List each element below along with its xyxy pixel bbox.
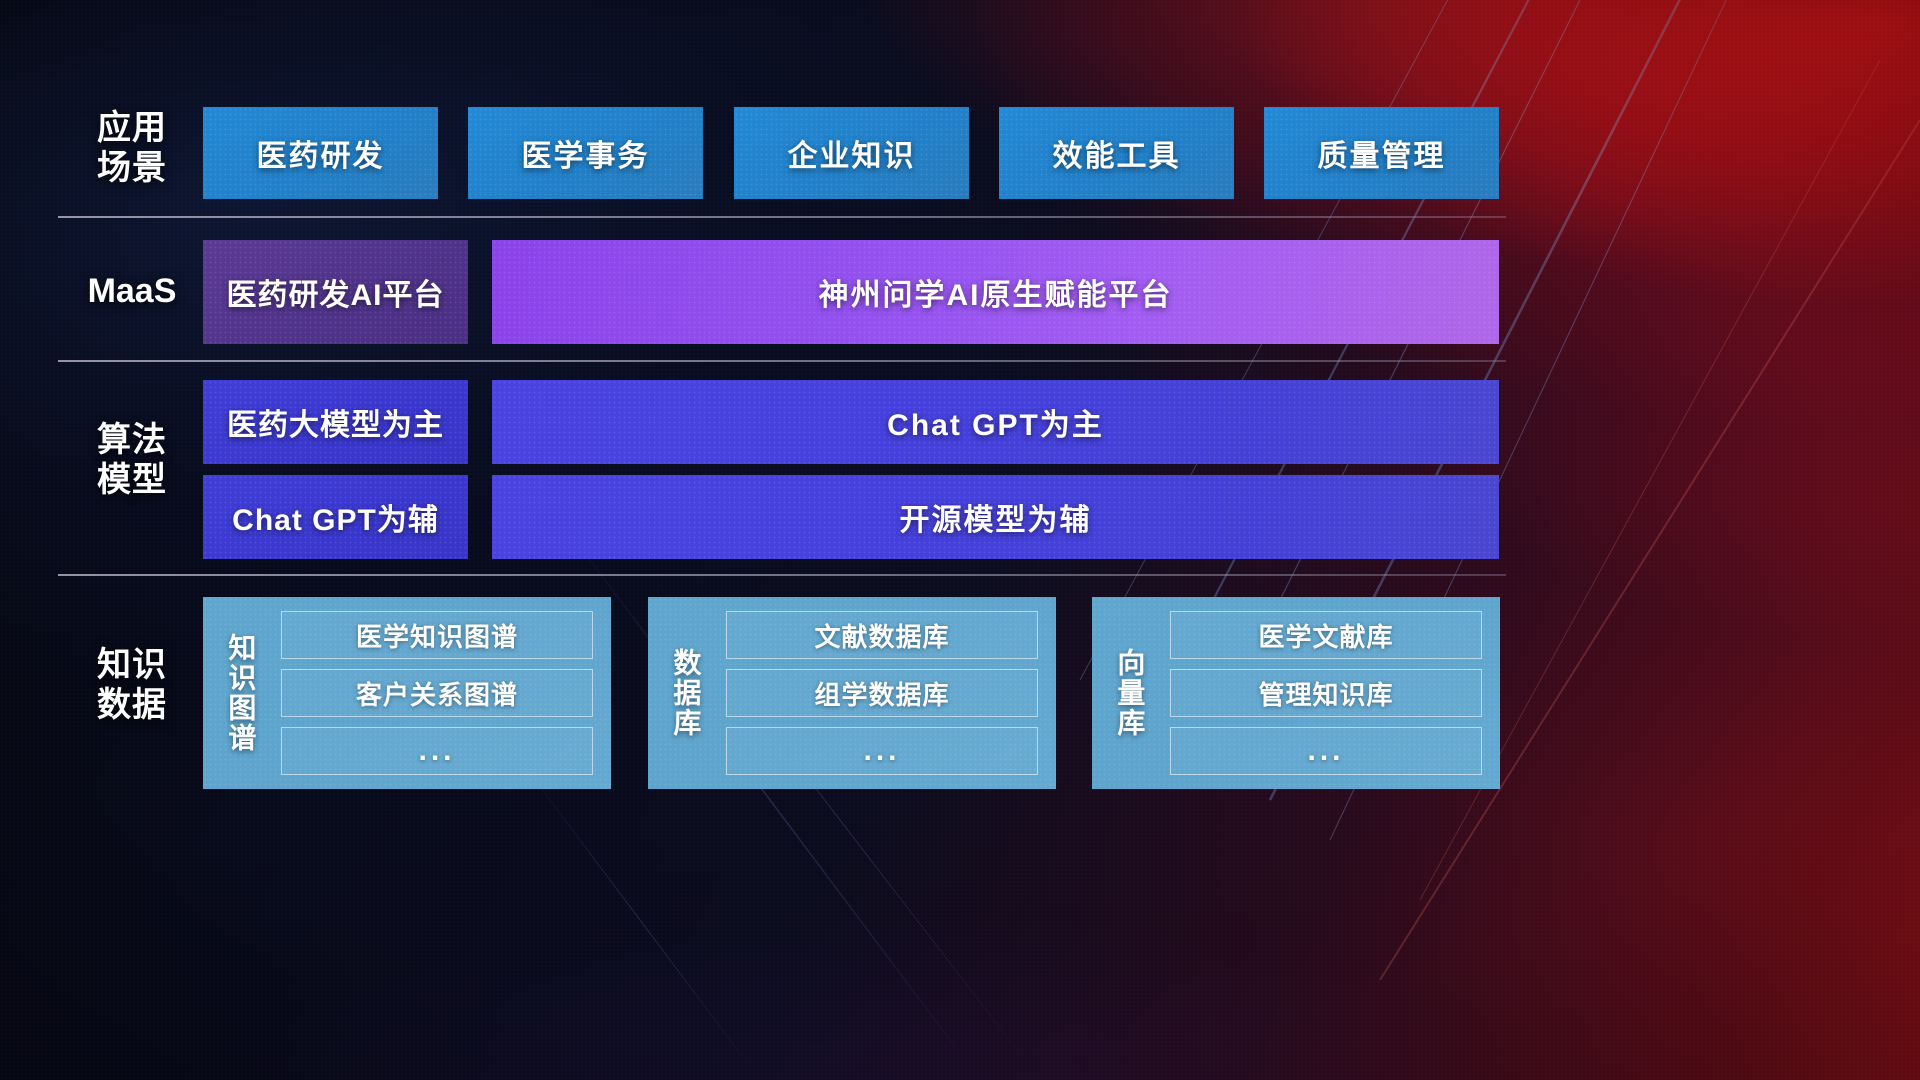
divider-maas-algorithm bbox=[58, 360, 1506, 362]
algorithm-box-medicine-llm-primary[interactable]: 医药大模型为主 bbox=[203, 380, 468, 464]
maas-box-label: 医药研发AI平台 bbox=[227, 270, 445, 314]
knowledge-item[interactable]: 客户关系图谱 bbox=[281, 669, 593, 717]
app-box-medical-affairs[interactable]: 医学事务 bbox=[468, 107, 703, 199]
algorithm-box-label: 医药大模型为主 bbox=[227, 400, 444, 444]
maas-box-medicine-rd-platform[interactable]: 医药研发AI平台 bbox=[203, 240, 468, 344]
knowledge-group-title: 向量库 bbox=[1092, 597, 1166, 789]
knowledge-item[interactable]: 医学知识图谱 bbox=[281, 611, 593, 659]
knowledge-group-vector-database: 向量库 医学文献库 管理知识库 ... bbox=[1092, 597, 1500, 789]
knowledge-group-title: 数据库 bbox=[648, 597, 722, 789]
knowledge-item[interactable]: 医学文献库 bbox=[1170, 611, 1482, 659]
knowledge-item-more[interactable]: ... bbox=[1170, 727, 1482, 775]
tier-label-algorithm: 算法 模型 bbox=[72, 420, 192, 500]
knowledge-item-more[interactable]: ... bbox=[726, 727, 1038, 775]
app-box-quality-management[interactable]: 质量管理 bbox=[1264, 107, 1499, 199]
app-box-enterprise-knowledge[interactable]: 企业知识 bbox=[734, 107, 969, 199]
app-box-label: 医学事务 bbox=[522, 131, 650, 175]
app-box-label: 质量管理 bbox=[1318, 131, 1446, 175]
maas-box-label: 神州问学AI原生赋能平台 bbox=[819, 270, 1173, 314]
algorithm-box-label: Chat GPT为辅 bbox=[232, 495, 439, 539]
knowledge-group-database: 数据库 文献数据库 组学数据库 ... bbox=[648, 597, 1056, 789]
app-box-label: 医药研发 bbox=[257, 131, 385, 175]
knowledge-group-items: 文献数据库 组学数据库 ... bbox=[722, 597, 1056, 789]
architecture-diagram: 应用 场景 医药研发 医学事务 企业知识 效能工具 质量管理 MaaS 医药研发… bbox=[0, 0, 1920, 1080]
knowledge-item[interactable]: 文献数据库 bbox=[726, 611, 1038, 659]
app-box-label: 效能工具 bbox=[1053, 131, 1181, 175]
knowledge-group-items: 医学文献库 管理知识库 ... bbox=[1166, 597, 1500, 789]
app-box-medicine-rd[interactable]: 医药研发 bbox=[203, 107, 438, 199]
knowledge-group-knowledge-graph: 知识图谱 医学知识图谱 客户关系图谱 ... bbox=[203, 597, 611, 789]
divider-application-maas bbox=[58, 216, 1506, 218]
knowledge-item[interactable]: 管理知识库 bbox=[1170, 669, 1482, 717]
knowledge-item[interactable]: 组学数据库 bbox=[726, 669, 1038, 717]
divider-algorithm-knowledge bbox=[58, 574, 1506, 576]
knowledge-group-title: 知识图谱 bbox=[203, 597, 277, 789]
maas-box-shenzhou-wenxue-platform[interactable]: 神州问学AI原生赋能平台 bbox=[492, 240, 1499, 344]
algorithm-box-chatgpt-secondary[interactable]: Chat GPT为辅 bbox=[203, 475, 468, 559]
tier-label-maas: MaaS bbox=[62, 271, 202, 311]
algorithm-box-label: Chat GPT为主 bbox=[887, 400, 1104, 444]
tier-label-knowledge: 知识 数据 bbox=[72, 645, 192, 725]
app-box-efficiency-tools[interactable]: 效能工具 bbox=[999, 107, 1234, 199]
app-box-label: 企业知识 bbox=[788, 131, 916, 175]
knowledge-item-more[interactable]: ... bbox=[281, 727, 593, 775]
knowledge-group-items: 医学知识图谱 客户关系图谱 ... bbox=[277, 597, 611, 789]
tier-label-application: 应用 场景 bbox=[72, 108, 192, 188]
algorithm-box-chatgpt-primary[interactable]: Chat GPT为主 bbox=[492, 380, 1499, 464]
algorithm-box-opensource-secondary[interactable]: 开源模型为辅 bbox=[492, 475, 1499, 559]
algorithm-box-label: 开源模型为辅 bbox=[900, 495, 1092, 539]
